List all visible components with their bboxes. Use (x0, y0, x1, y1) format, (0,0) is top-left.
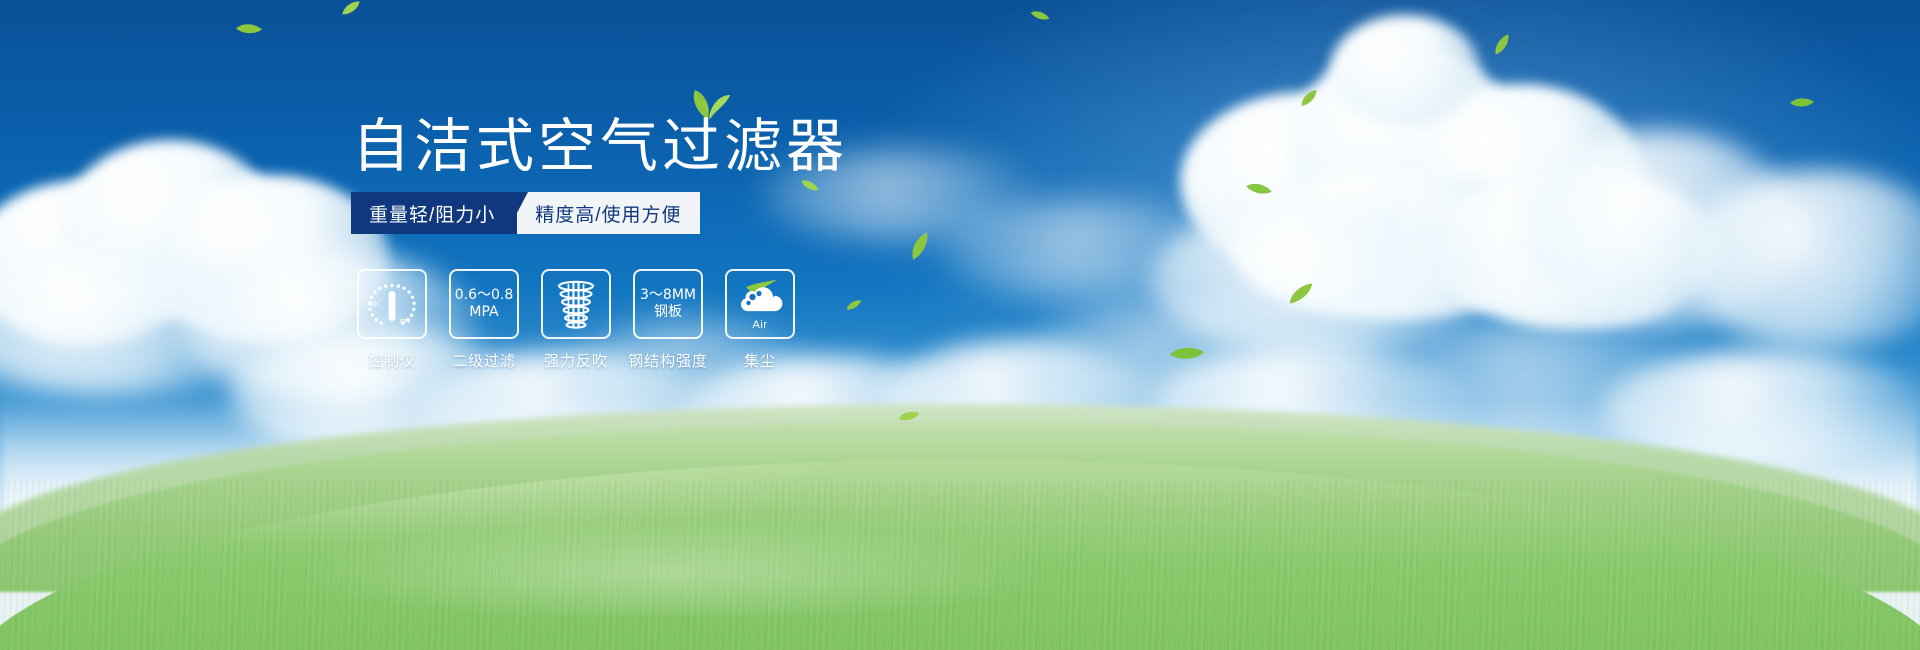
hero-banner: 自洁式空气过滤器 重量轻/阻力小 精度高/使用方便 (0, 0, 1920, 650)
feature-list: NO OFF 控制仪 0.6～0.8 MPA 二级过滤 (357, 269, 795, 371)
feature-item-backblow[interactable]: 强力反吹 (541, 269, 611, 371)
steel-plate-icon: 3～8MM 钢板 (640, 287, 696, 321)
svg-text:OFF: OFF (400, 319, 412, 325)
feature-label: 强力反吹 (544, 350, 608, 371)
feature-icon-box: Air (725, 269, 795, 339)
feature-label: 控制仪 (368, 350, 416, 371)
steel-thickness: 3～8MM (640, 287, 696, 304)
tag-row: 重量轻/阻力小 精度高/使用方便 (351, 192, 700, 234)
feature-item-secondary-filter[interactable]: 0.6～0.8 MPA 二级过滤 (449, 269, 519, 371)
pressure-value-icon: 0.6～0.8 MPA (455, 287, 514, 321)
feature-label: 集尘 (744, 350, 776, 371)
feature-item-controller[interactable]: NO OFF 控制仪 (357, 269, 427, 371)
filter-cartridge-icon (552, 278, 600, 330)
air-label: Air (727, 319, 793, 331)
page-title: 自洁式空气过滤器 (352, 117, 848, 175)
pressure-range: 0.6～0.8 (455, 287, 514, 304)
pressure-unit: MPA (455, 304, 514, 321)
tag-precision-convenience[interactable]: 精度高/使用方便 (505, 192, 699, 234)
tag-weight-resistance[interactable]: 重量轻/阻力小 (351, 192, 517, 234)
feature-icon-box: 3～8MM 钢板 (633, 269, 703, 339)
feature-icon-box (541, 269, 611, 339)
feature-item-dust-collection[interactable]: Air 集尘 (725, 269, 795, 371)
feature-icon-box: NO OFF (357, 269, 427, 339)
steel-material: 钢板 (640, 304, 696, 321)
feature-label: 二级过滤 (452, 350, 516, 371)
feature-item-steel-strength[interactable]: 3～8MM 钢板 钢结构强度 (633, 269, 703, 371)
feature-label: 钢结构强度 (628, 350, 708, 371)
feature-icon-box: 0.6～0.8 MPA (449, 269, 519, 339)
gauge-control-icon: NO OFF (364, 279, 420, 329)
svg-text:NO: NO (368, 302, 377, 308)
